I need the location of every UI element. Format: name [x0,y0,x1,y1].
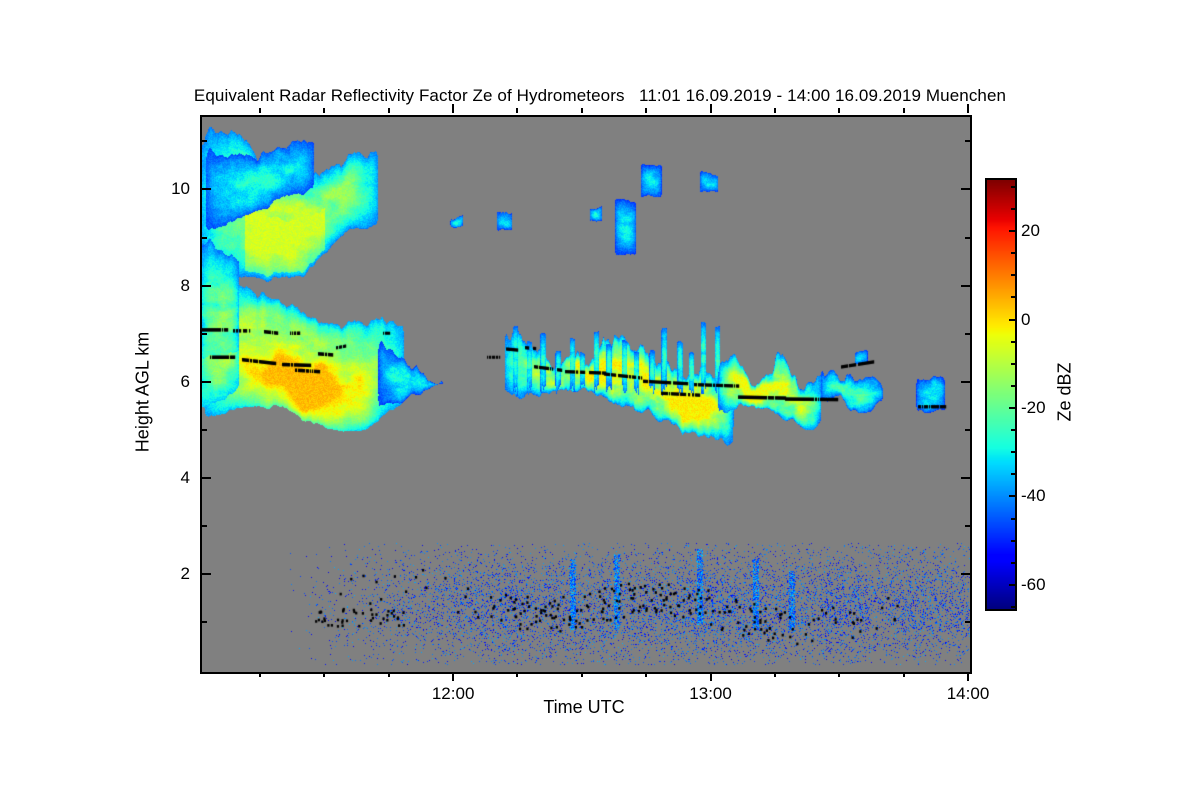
colorbar-tick-label: 20 [1021,221,1040,241]
colorbar [985,178,1017,611]
colorbar-tick-major [1009,584,1015,586]
y-tick-label: 10 [148,179,190,199]
x-tick-top [323,108,325,113]
y-tick-major [202,188,211,190]
colorbar-tick-major [1009,495,1015,497]
x-tick-minor [259,672,261,677]
plot-area [200,115,972,674]
y-axis-title: Height AGL km [133,332,154,452]
y-tick-right [965,140,970,142]
radar-heatmap-canvas [202,117,970,672]
y-tick-label: 6 [148,372,190,392]
y-tick-minor [202,621,207,623]
x-tick-minor [774,672,776,677]
colorbar-tick-label: -40 [1021,486,1046,506]
page-title: Equivalent Radar Reflectivity Factor Ze … [0,86,1200,106]
x-tick-minor [903,672,905,677]
x-tick-top [388,108,390,113]
y-tick-major [202,285,211,287]
x-tick-major [452,672,454,681]
x-tick-top [516,108,518,113]
x-tick-top [967,104,969,113]
y-tick-right [965,525,970,527]
y-tick-minor [202,429,207,431]
y-tick-right [965,333,970,335]
colorbar-tick-minor [1011,429,1015,431]
colorbar-tick-minor [1011,252,1015,254]
x-tick-minor [581,672,583,677]
y-tick-minor [202,333,207,335]
x-tick-minor [388,672,390,677]
colorbar-tick-major [1009,407,1015,409]
colorbar-tick-minor [1011,473,1015,475]
y-tick-right [965,621,970,623]
radar-reflectivity-figure: Equivalent Radar Reflectivity Factor Ze … [0,0,1200,800]
y-tick-label: 8 [148,276,190,296]
x-tick-minor [645,672,647,677]
colorbar-tick-minor [1011,296,1015,298]
y-tick-minor [202,525,207,527]
colorbar-title: Ze dBZ [1055,362,1076,421]
colorbar-tick-label: -20 [1021,398,1046,418]
x-tick-minor [838,672,840,677]
y-tick-minor [202,140,207,142]
x-tick-top [452,104,454,113]
colorbar-tick-minor [1011,208,1015,210]
colorbar-tick-major [1009,319,1015,321]
colorbar-tick-minor [1011,562,1015,564]
y-tick-major [202,381,211,383]
x-tick-top [645,108,647,113]
x-tick-top [903,108,905,113]
colorbar-tick-minor [1011,606,1015,608]
y-tick-label: 4 [148,468,190,488]
colorbar-tick-label: 0 [1021,310,1030,330]
colorbar-tick-minor [1011,540,1015,542]
y-tick-right [961,573,970,575]
y-tick-right [965,429,970,431]
colorbar-tick-minor [1011,186,1015,188]
colorbar-tick-minor [1011,341,1015,343]
colorbar-tick-minor [1011,363,1015,365]
y-tick-right [961,381,970,383]
y-tick-right [961,477,970,479]
x-tick-minor [323,672,325,677]
x-tick-top [581,108,583,113]
y-tick-right [961,285,970,287]
x-tick-top [259,108,261,113]
colorbar-tick-minor [1011,518,1015,520]
colorbar-tick-minor [1011,274,1015,276]
y-tick-major [202,477,211,479]
y-tick-right [965,237,970,239]
colorbar-tick-label: -60 [1021,575,1046,595]
x-axis-title: Time UTC [200,697,968,718]
colorbar-tick-minor [1011,385,1015,387]
x-tick-top [710,104,712,113]
x-tick-minor [516,672,518,677]
x-tick-top [774,108,776,113]
x-tick-major [967,672,969,681]
y-tick-right [961,188,970,190]
y-tick-minor [202,237,207,239]
colorbar-tick-major [1009,230,1015,232]
colorbar-gradient [987,180,1015,609]
y-tick-label: 2 [148,564,190,584]
colorbar-tick-minor [1011,451,1015,453]
x-tick-top [838,108,840,113]
x-tick-major [710,672,712,681]
y-tick-major [202,573,211,575]
